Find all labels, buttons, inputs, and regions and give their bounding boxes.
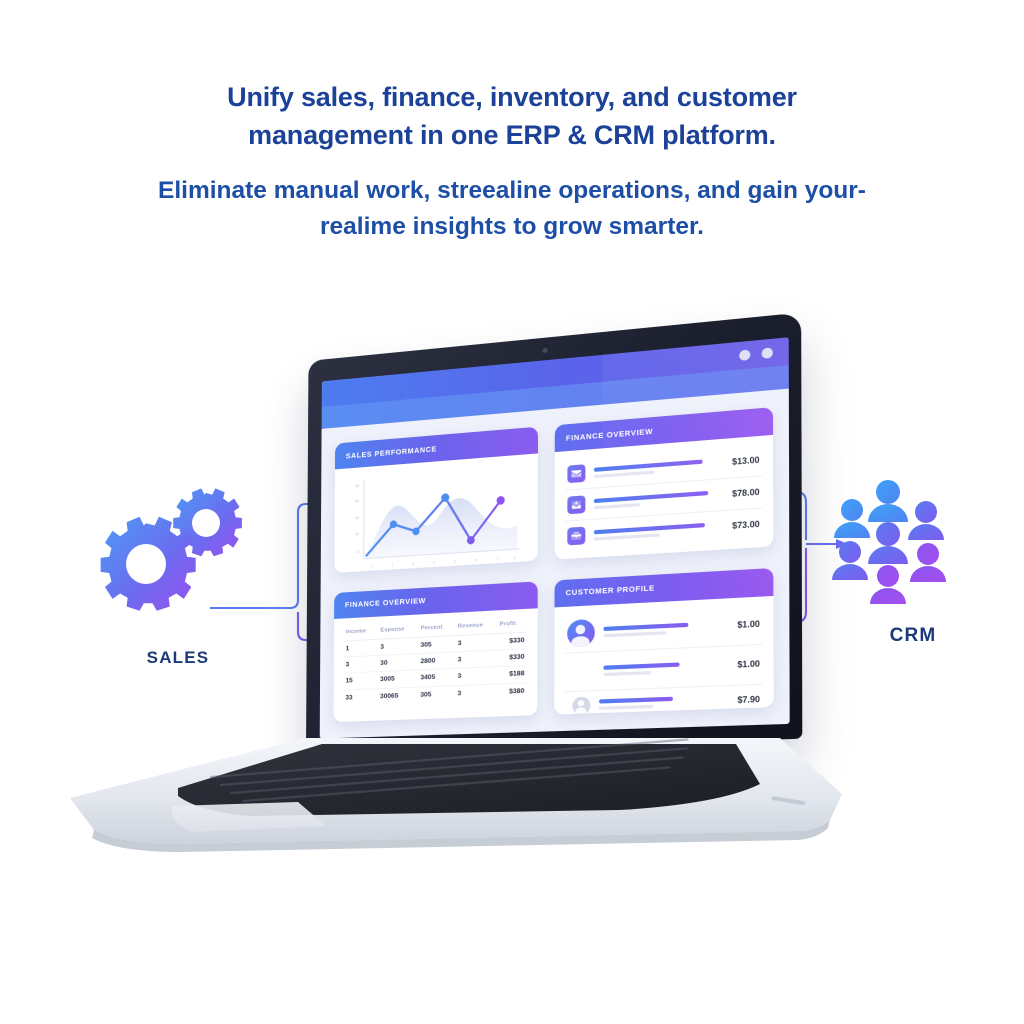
card-title: CUSTOMER PROFILE: [566, 583, 655, 597]
svg-text:2: 2: [391, 563, 393, 567]
svg-text:60: 60: [355, 499, 359, 503]
laptop-screen: SALES PERFORMANCE: [320, 337, 790, 738]
cell: 305: [418, 635, 455, 653]
envelope-icon: [567, 464, 585, 483]
cell-amount: $330: [497, 632, 526, 650]
gears-icon: [88, 482, 268, 612]
cell: 305: [418, 685, 455, 703]
svg-text:6: 6: [475, 558, 477, 562]
headline-line-2: Eliminate manual work, streealine operat…: [142, 173, 882, 247]
headline-block: Unify sales, finance, inventory, and cus…: [0, 78, 1024, 246]
poster-canvas: Unify sales, finance, inventory, and cus…: [0, 0, 1024, 1024]
headline-line-1: Unify sales, finance, inventory, and cus…: [157, 78, 867, 155]
card-customer-profile[interactable]: CUSTOMER PROFILE: [554, 567, 774, 714]
cell: 33: [343, 688, 378, 705]
svg-text:5: 5: [454, 559, 456, 563]
cell: 1: [344, 639, 379, 657]
value-bars: [603, 661, 713, 676]
cell: 15: [343, 672, 378, 690]
cell: 3: [378, 637, 418, 655]
avatar: [567, 618, 595, 646]
cell: 3: [344, 655, 379, 673]
value-bars: [599, 695, 713, 710]
card-body: $13.00 $78.: [554, 435, 773, 559]
crm-label-wrap: CRM: [828, 625, 998, 647]
value-bars: [593, 458, 712, 477]
cell-amount: $188: [497, 666, 526, 684]
laptop-base: [60, 732, 850, 852]
card-finance-overview-list[interactable]: FINANCE OVERVIEW: [554, 407, 773, 559]
card-body: $1.00 $1.00: [554, 595, 774, 714]
cell: 2800: [418, 652, 455, 670]
avatar-muted: [572, 696, 590, 714]
row-amount: $7.90: [722, 694, 760, 705]
svg-text:80: 80: [355, 484, 359, 488]
row-amount: $1.00: [722, 619, 760, 630]
card-finance-overview-table[interactable]: FINANCE OVERVIEW Income Expense: [333, 581, 537, 722]
svg-text:7: 7: [497, 557, 499, 561]
cell: 30065: [378, 687, 418, 705]
value-bars: [593, 490, 712, 509]
card-title: FINANCE OVERVIEW: [345, 596, 426, 610]
cell: 3: [455, 684, 497, 702]
card-body: Income Expense Percent Revenue Profit: [333, 608, 537, 722]
cell: 30: [378, 653, 418, 671]
cell-amount: $330: [497, 649, 526, 667]
row-amount: $13.00: [721, 455, 759, 467]
cell: 3: [456, 667, 498, 686]
card-body: 8060 4020 0 12 34 56: [334, 453, 537, 572]
laptop-lid: SALES PERFORMANCE: [306, 312, 802, 753]
cell-amount: $380: [497, 682, 526, 700]
svg-text:40: 40: [355, 516, 359, 520]
cell: 3: [456, 633, 498, 652]
cell: 3405: [418, 669, 455, 687]
avatar-placeholder: [567, 657, 595, 685]
finance-table: Income Expense Percent Revenue Profit: [343, 617, 526, 706]
sales-label-wrap: SALES: [88, 648, 268, 668]
value-bars: [593, 522, 712, 540]
svg-text:1: 1: [371, 564, 373, 568]
card-title: FINANCE OVERVIEW: [566, 426, 653, 442]
window-dot-left-icon[interactable]: [739, 349, 750, 361]
svg-text:4: 4: [433, 561, 435, 565]
row-amount: $78.00: [721, 487, 759, 499]
sales-line-chart: 8060 4020 0 12 34 56: [344, 463, 527, 573]
row-amount: $73.00: [722, 519, 760, 531]
svg-text:3: 3: [412, 562, 414, 566]
svg-text:8: 8: [514, 556, 516, 560]
crm-label: CRM: [890, 625, 937, 647]
briefcase-icon: [567, 527, 585, 546]
window-dot-right-icon[interactable]: [762, 347, 773, 359]
svg-text:0: 0: [357, 550, 359, 554]
cell: 3: [456, 650, 498, 669]
svg-text:20: 20: [355, 532, 359, 536]
value-bars: [603, 621, 713, 637]
card-title: SALES PERFORMANCE: [346, 444, 437, 460]
cell: 3005: [378, 670, 418, 688]
people-group-icon: [828, 478, 998, 613]
row-amount: $1.00: [722, 659, 760, 670]
inbox-icon: [567, 495, 585, 514]
card-sales-performance[interactable]: SALES PERFORMANCE: [334, 427, 537, 573]
webcam-icon: [542, 348, 547, 354]
sales-label: SALES: [147, 648, 210, 668]
dashboard-content: SALES PERFORMANCE: [320, 389, 790, 739]
column-header: Profit: [497, 617, 526, 633]
